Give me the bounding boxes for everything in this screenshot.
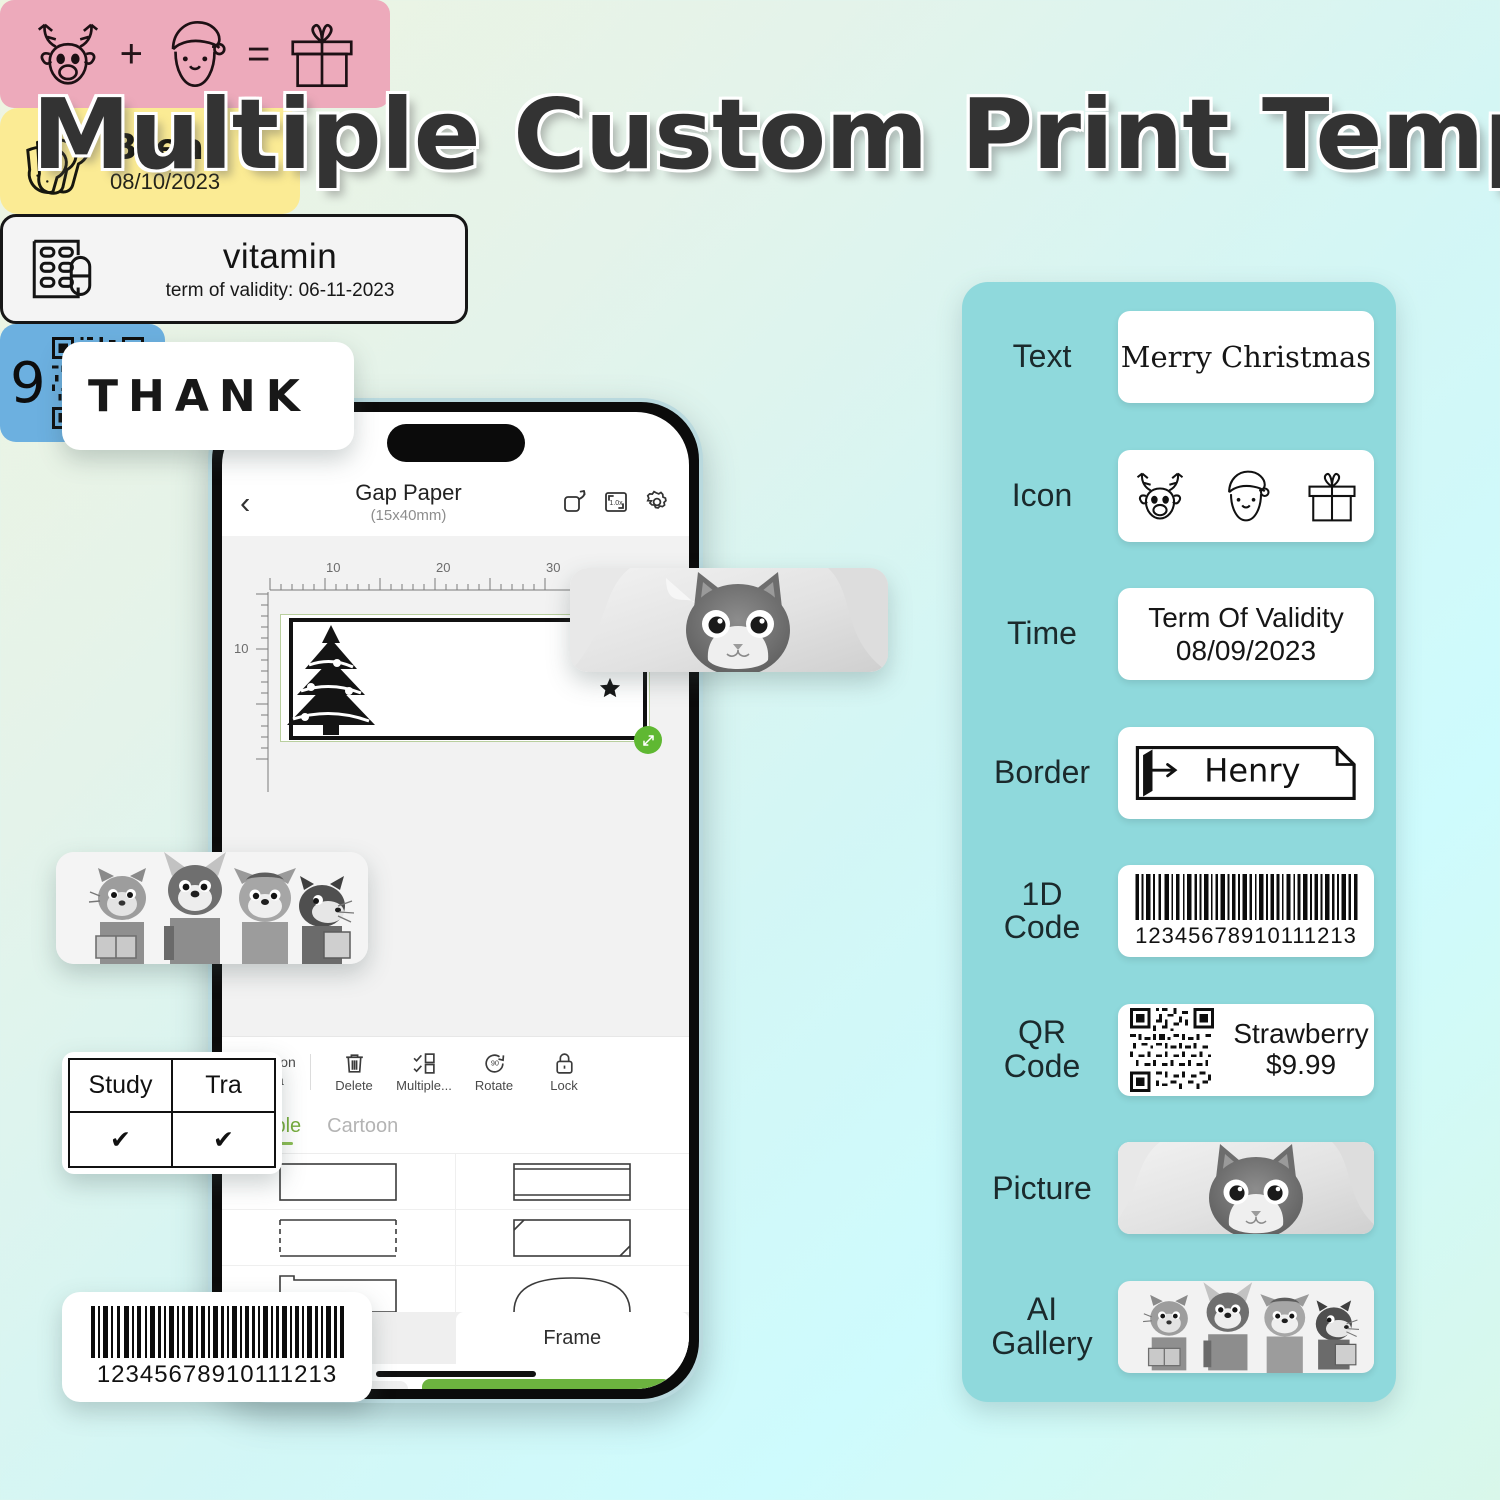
app-bar-actions: 1.0x bbox=[561, 488, 671, 516]
cat-photo bbox=[570, 568, 888, 672]
ai-gallery-card bbox=[56, 852, 368, 964]
ai-squirrels-illustration bbox=[1118, 1281, 1374, 1373]
frame-option-double-line[interactable] bbox=[456, 1154, 690, 1210]
vitamin-label-card: vitamin term of validity: 06-11-2023 bbox=[0, 214, 468, 324]
feature-label-qr-code: QR Code bbox=[976, 1016, 1108, 1083]
ruler-tick-30: 30 bbox=[546, 560, 560, 575]
scale-1x-icon[interactable]: 1.0x bbox=[602, 488, 630, 516]
star-small-icon bbox=[599, 677, 621, 699]
feature-time-line2: 08/09/2023 bbox=[1148, 634, 1344, 667]
multiple-select-button[interactable]: Multiple... bbox=[389, 1051, 459, 1093]
ruler-vertical: 10 bbox=[230, 592, 272, 792]
lock-button[interactable]: Lock bbox=[529, 1051, 599, 1093]
gear-icon[interactable] bbox=[643, 488, 671, 516]
qr-product-name: Strawberry bbox=[1228, 1019, 1374, 1050]
equals-sign: = bbox=[247, 32, 270, 77]
feature-label-border: Border bbox=[976, 756, 1108, 790]
app-bar: ‹ Gap Paper (15x40mm) 1.0x bbox=[222, 468, 689, 536]
ai-squirrels-illustration bbox=[56, 852, 368, 964]
feature-time-line1: Term Of Validity bbox=[1148, 601, 1344, 634]
svg-text:90: 90 bbox=[490, 1058, 498, 1067]
feature-row-ai-gallery: AI Gallery bbox=[976, 1268, 1374, 1386]
barcode-digits: 12345678910111213 bbox=[97, 1361, 337, 1389]
feature-label-ai-gallery: AI Gallery bbox=[976, 1293, 1108, 1360]
rotate-paper-icon[interactable] bbox=[561, 488, 589, 516]
study-checklist-card: Study Tra ✔ ✔ bbox=[62, 1052, 282, 1174]
barcode-icon bbox=[87, 1306, 347, 1358]
paper-type-title: Gap Paper bbox=[256, 480, 561, 506]
rotate-label: Rotate bbox=[459, 1078, 529, 1093]
app-bar-titles: Gap Paper (15x40mm) bbox=[256, 480, 561, 524]
toolbar-divider bbox=[310, 1054, 311, 1090]
cat-photo bbox=[1118, 1142, 1374, 1234]
table-row-headers: Study Tra bbox=[69, 1059, 275, 1112]
feature-card-time[interactable]: Term Of Validity 08/09/2023 bbox=[1118, 588, 1374, 680]
feature-card-text[interactable]: Merry Christmas bbox=[1118, 311, 1374, 403]
lock-label: Lock bbox=[529, 1078, 599, 1093]
header-study: Study bbox=[69, 1059, 172, 1112]
gift-icon bbox=[1302, 466, 1362, 526]
delete-label: Delete bbox=[319, 1078, 389, 1093]
border-frame-preview: Henry bbox=[1128, 736, 1364, 810]
cat-picture-card bbox=[570, 568, 888, 672]
rotate-button[interactable]: 90 Rotate bbox=[459, 1051, 529, 1093]
check-train: ✔ bbox=[172, 1112, 275, 1167]
ruler-tick-20: 20 bbox=[436, 560, 450, 575]
frame-option-corner-cuts[interactable] bbox=[456, 1210, 690, 1266]
ruler-v-tick-10: 10 bbox=[234, 641, 248, 656]
lock-icon bbox=[552, 1051, 577, 1076]
thanks-label-card: THANK bbox=[62, 342, 354, 450]
home-indicator bbox=[376, 1371, 536, 1377]
feature-row-time: Time Term Of Validity 08/09/2023 bbox=[976, 575, 1374, 693]
feature-card-qr-code[interactable]: Strawberry $9.99 bbox=[1118, 1004, 1374, 1096]
feature-card-ai-gallery[interactable] bbox=[1118, 1281, 1374, 1373]
scale-value: 1.0x bbox=[609, 500, 623, 507]
frame-option-dashed-sides[interactable] bbox=[222, 1210, 456, 1266]
resize-handle[interactable] bbox=[634, 726, 662, 754]
christmas-tree-icon bbox=[271, 617, 391, 745]
qr-product-price: $9.99 bbox=[1228, 1050, 1374, 1081]
rotate-90-icon: 90 bbox=[482, 1051, 507, 1076]
plus-sign: + bbox=[120, 32, 143, 77]
function-area-toolbar: Function Area Delete Multiple... bbox=[222, 1036, 689, 1106]
template-category-tabs: Simple Cartoon bbox=[222, 1106, 689, 1154]
delete-button[interactable]: Delete bbox=[319, 1051, 389, 1093]
barcode-label-card: 12345678910111213 bbox=[62, 1292, 372, 1402]
tab-frame[interactable]: Frame bbox=[456, 1312, 690, 1364]
feature-row-border: Border Henry bbox=[976, 714, 1374, 832]
border-name-text: Henry bbox=[1204, 751, 1300, 789]
feature-row-qr-code: QR Code bbox=[976, 991, 1374, 1109]
feature-row-text: Text Merry Christmas bbox=[976, 298, 1374, 416]
qr-product-texts: Strawberry $9.99 bbox=[1228, 1019, 1374, 1081]
feature-row-icon: Icon bbox=[976, 437, 1374, 555]
feature-card-icon[interactable] bbox=[1118, 450, 1374, 542]
qr-code-icon bbox=[1130, 1008, 1214, 1092]
feature-text-value: Merry Christmas bbox=[1121, 340, 1371, 374]
header-train: Tra bbox=[172, 1059, 275, 1112]
feature-panel: Text Merry Christmas Icon bbox=[962, 282, 1396, 1402]
multi-select-icon bbox=[412, 1051, 437, 1076]
table-row-values: ✔ ✔ bbox=[69, 1112, 275, 1167]
feature-label-qr-line1: QR bbox=[976, 1016, 1108, 1050]
paper-size-subtitle: (15x40mm) bbox=[256, 507, 561, 524]
feature-1d-digits: 12345678910111213 bbox=[1135, 923, 1357, 949]
tab-cartoon[interactable]: Cartoon bbox=[327, 1115, 398, 1145]
check-study: ✔ bbox=[69, 1112, 172, 1167]
feature-card-picture[interactable] bbox=[1118, 1142, 1374, 1234]
ruler-tick-10: 10 bbox=[326, 560, 340, 575]
feature-label-ai-line1: AI bbox=[976, 1293, 1108, 1327]
feature-label-1d-line1: 1D bbox=[976, 878, 1108, 912]
print-button[interactable]: Print bbox=[422, 1379, 671, 1389]
reindeer-icon bbox=[1130, 466, 1190, 526]
feature-label-ai-line2: Gallery bbox=[976, 1327, 1108, 1361]
feature-label-text: Text bbox=[976, 340, 1108, 374]
vitamin-name: vitamin bbox=[117, 237, 443, 277]
feature-card-1d-code[interactable]: 12345678910111213 bbox=[1118, 865, 1374, 957]
feature-label-1d-code: 1D Code bbox=[976, 878, 1108, 945]
barcode-icon bbox=[1132, 873, 1360, 921]
feature-label-picture: Picture bbox=[976, 1172, 1108, 1206]
feature-label-icon: Icon bbox=[976, 479, 1108, 513]
feature-row-1d-code: 1D Code bbox=[976, 852, 1374, 970]
vitamin-validity: term of validity: 06-11-2023 bbox=[117, 280, 443, 302]
multiple-label: Multiple... bbox=[389, 1078, 459, 1093]
feature-card-border[interactable]: Henry bbox=[1118, 727, 1374, 819]
blue-qr-number: 9 bbox=[10, 351, 46, 416]
santa-icon bbox=[1216, 466, 1276, 526]
feature-label-1d-line2: Code bbox=[976, 911, 1108, 945]
feature-row-picture: Picture bbox=[976, 1129, 1374, 1247]
pill-blister-icon bbox=[25, 232, 99, 306]
feature-label-qr-line2: Code bbox=[976, 1050, 1108, 1084]
study-table: Study Tra ✔ ✔ bbox=[68, 1058, 276, 1168]
thanks-label-text: THANK bbox=[62, 371, 310, 422]
feature-label-time: Time bbox=[976, 617, 1108, 651]
feature-time-value: Term Of Validity 08/09/2023 bbox=[1148, 601, 1344, 667]
trash-icon bbox=[342, 1051, 367, 1076]
phone-notch bbox=[387, 424, 525, 462]
vitamin-texts: vitamin term of validity: 06-11-2023 bbox=[117, 237, 443, 302]
page-title: Multiple Custom Print Templates bbox=[32, 78, 1500, 191]
